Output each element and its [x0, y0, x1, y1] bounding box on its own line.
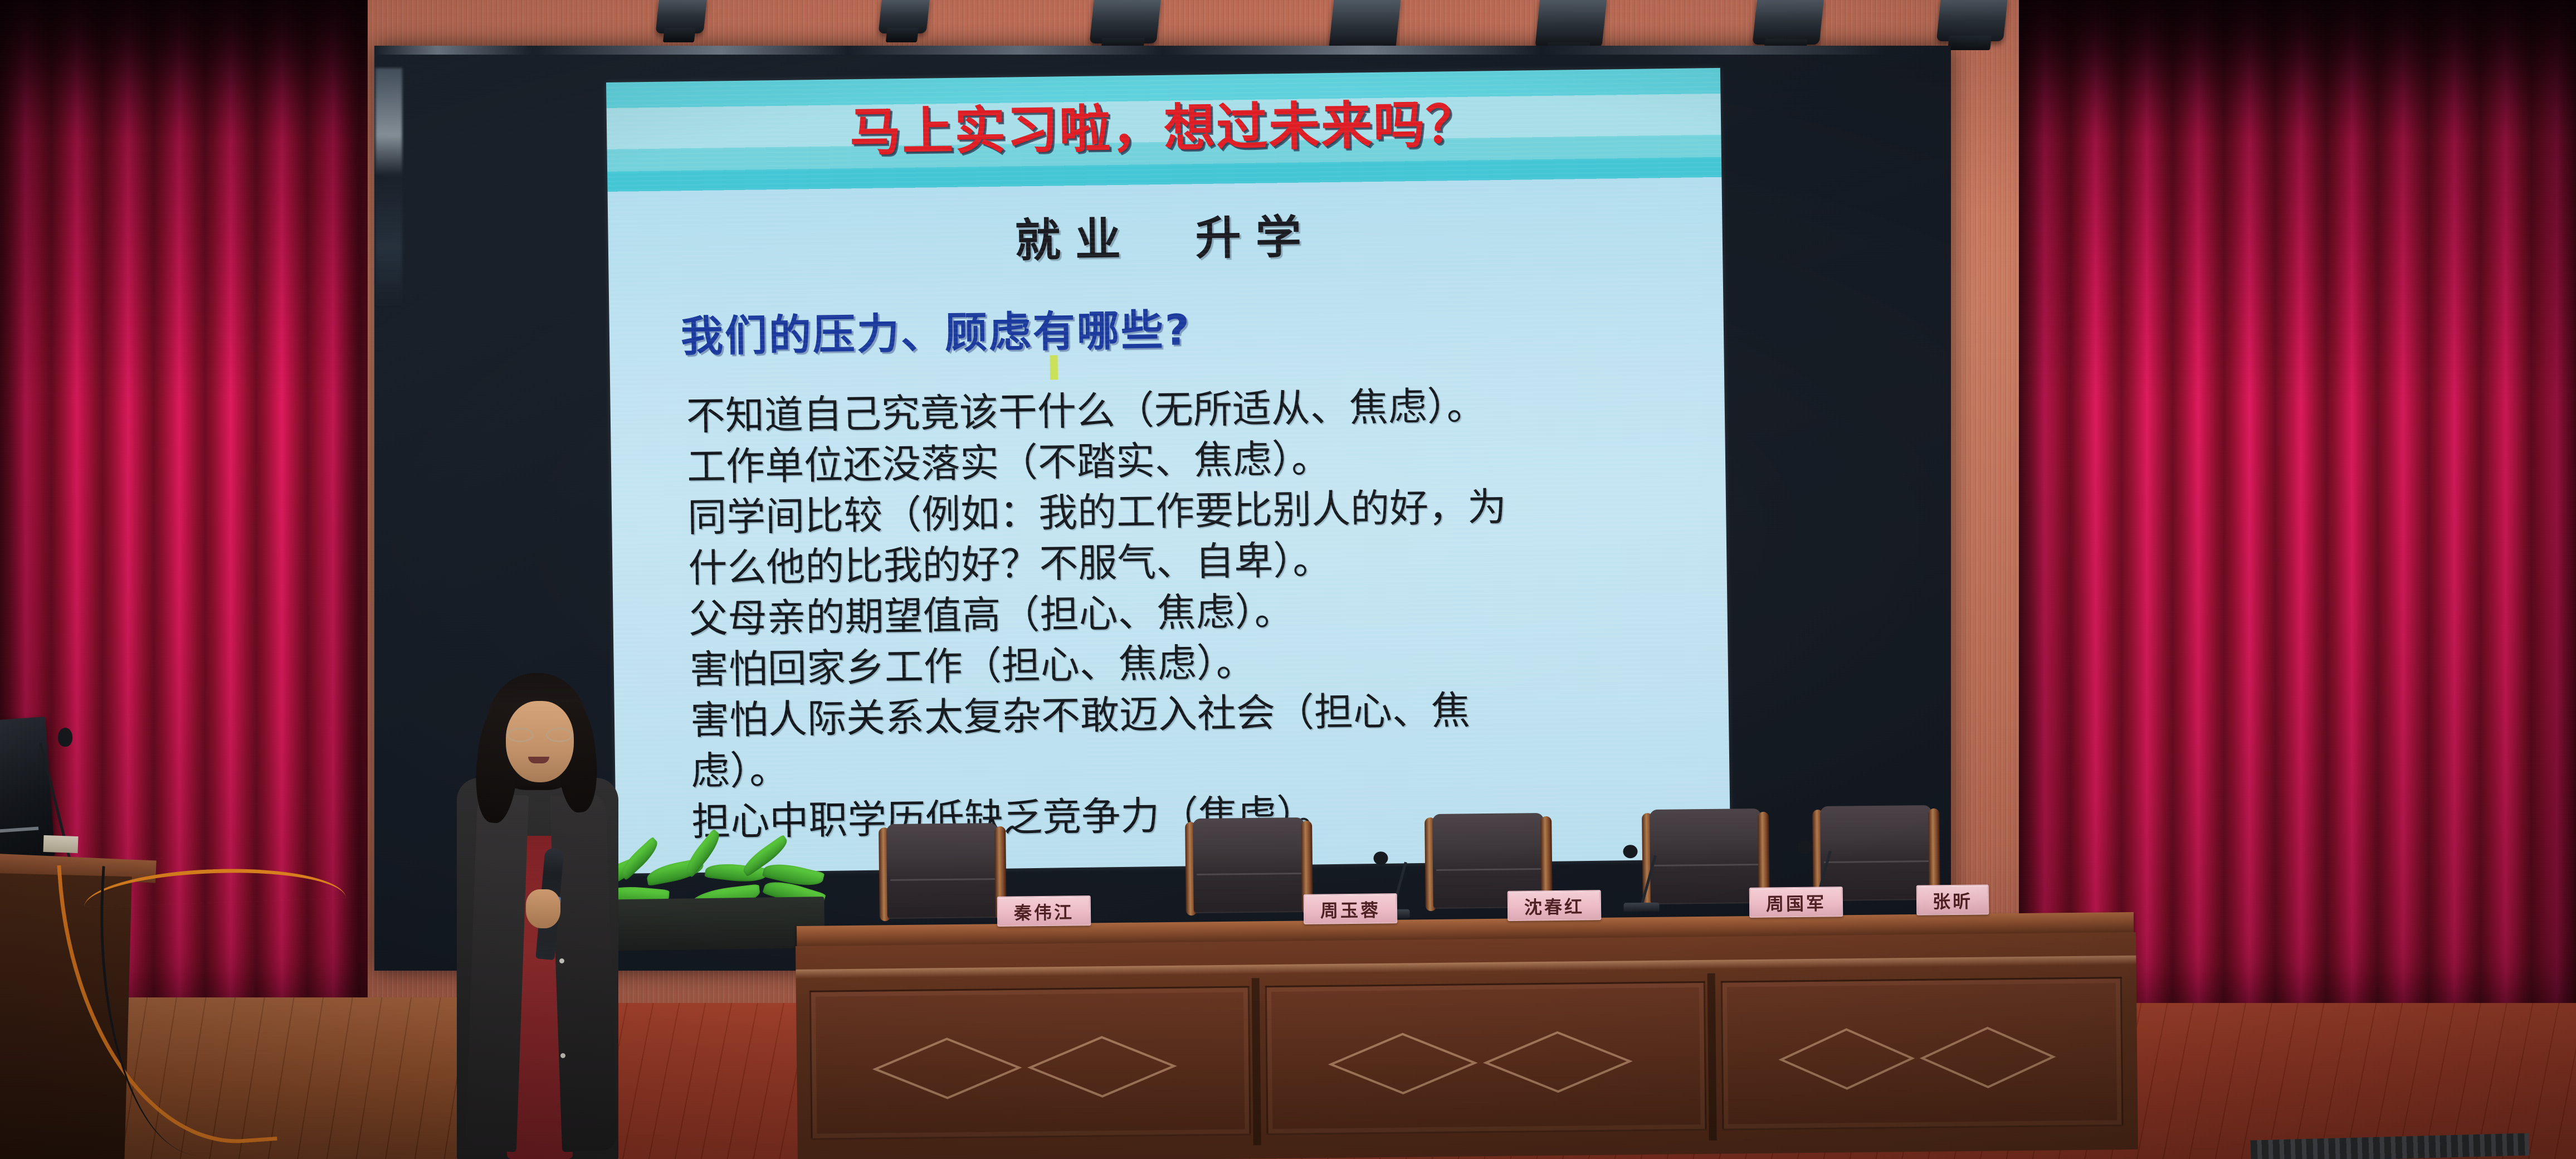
name-placard: 沈春红 [1507, 890, 1602, 921]
name-placard: 周玉蓉 [1304, 893, 1398, 924]
monitor-bezel-strip [0, 826, 38, 833]
stage-light [656, 0, 708, 33]
slide-body-text: 不知道自己究竟该干什么（无所适从、焦虑）。 工作单位还没落实（不踏实、焦虑）。 … [686, 378, 1695, 848]
screen-left-glint [375, 68, 402, 308]
placard-name: 周国军 [1766, 889, 1826, 915]
auditorium-stage-scene: 马上实习啦，想过未来吗？ 就业 升学 我们的压力、顾虑有哪些? 不知道自己究竟该… [0, 0, 2576, 1159]
name-placard: 秦伟江 [997, 895, 1091, 927]
slide-title: 马上实习啦，想过未来吗？ [707, 96, 1621, 162]
presenter [423, 669, 641, 1159]
placard-name: 周玉蓉 [1320, 896, 1380, 922]
stage-light [1936, 0, 2008, 41]
table-diamond-motif [1770, 1023, 2074, 1093]
presenter-mouth [528, 757, 549, 763]
jacket-button [559, 958, 564, 963]
name-placard: 周国军 [1749, 887, 1843, 918]
presenter-hand [526, 889, 560, 928]
table-panel [809, 986, 1251, 1139]
stage-light [879, 0, 930, 33]
stage-light [1752, 0, 1824, 45]
stage-curtain-right [2019, 0, 2576, 1009]
table-rail-molding [796, 956, 2136, 978]
slide-question-heading: 我们的压力、顾虑有哪些? [680, 308, 1191, 359]
desk-microphone [1615, 845, 1666, 912]
placard-name: 秦伟江 [1014, 898, 1074, 924]
podium-papers [43, 835, 78, 853]
jacket-button [560, 1053, 565, 1058]
stage-light [1329, 0, 1401, 50]
table-panel [1721, 977, 2124, 1131]
stage-light [1090, 0, 1162, 43]
screen-top-glint [374, 46, 1951, 55]
stage-light [1535, 0, 1607, 48]
slide-subtitle: 就业 升学 [708, 210, 1622, 270]
conference-table-front [796, 932, 2138, 1159]
presentation-slide: 马上实习啦，想过未来吗？ 就业 升学 我们的压力、顾虑有哪些? 不知道自己究竟该… [606, 68, 1730, 874]
placard-name: 张昕 [1933, 888, 1973, 914]
eyeglasses-icon [507, 728, 573, 742]
placard-name: 沈春红 [1524, 893, 1584, 919]
laser-pointer-marker [1050, 355, 1058, 379]
table-panel [1265, 981, 1707, 1135]
table-diamond-motif [1320, 1027, 1652, 1098]
conference-chair [1184, 817, 1314, 919]
microphone-capsule-icon [58, 728, 72, 747]
table-diamond-motif [864, 1032, 1197, 1103]
conference-chair [877, 823, 1008, 924]
name-placard: 张昕 [1916, 884, 1989, 915]
